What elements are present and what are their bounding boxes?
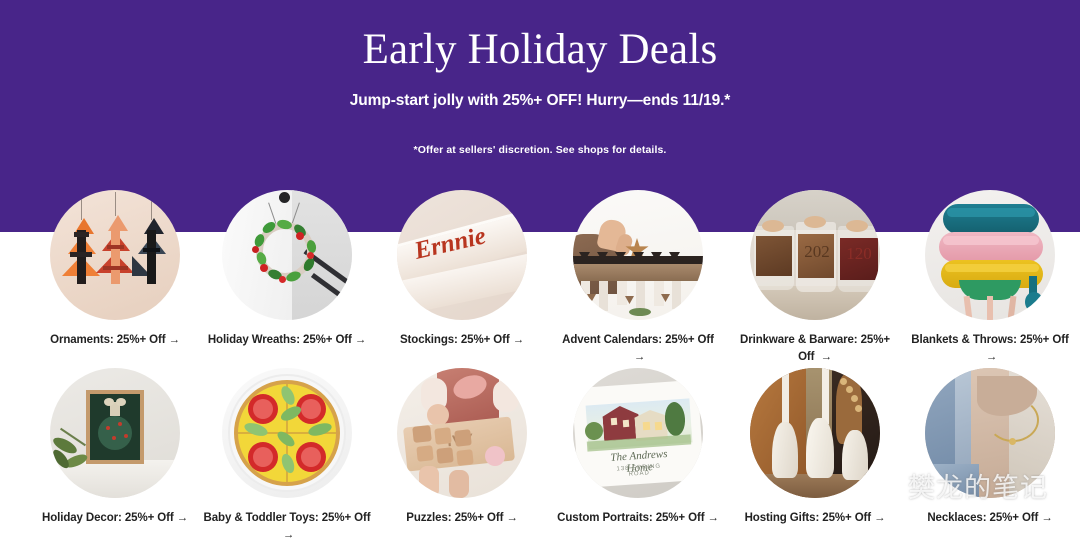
category-tile-holiday-decor[interactable]: Holiday Decor: 25%+ Off→ [25,368,205,527]
promo-subtitle: Jump-start jolly with 25%+ OFF! Hurry—en… [0,92,1080,110]
category-label[interactable]: Holiday Decor: 25%+ Off→ [25,510,205,527]
arrow-right-icon: → [983,351,997,363]
thumbnail-wrap[interactable] [222,368,352,498]
category-tile-holiday-wreaths[interactable]: Holiday Wreaths: 25%+ Off→ [197,190,377,349]
category-label[interactable]: Necklaces: 25%+ Off→ [900,510,1080,527]
category-label[interactable]: Advent Calendars: 25%+ Off → [548,332,728,366]
advent-calendars-image [573,190,703,320]
baby-toddler-toys-image [222,368,352,498]
holiday-wreaths-image [222,190,352,320]
puzzles-image: IVY [397,368,527,498]
page-root: Early Holiday Deals Jump-start jolly wit… [0,0,1080,544]
necklaces-image [925,368,1055,498]
arrow-right-icon: → [503,512,517,524]
category-label[interactable]: Holiday Wreaths: 25%+ Off→ [197,332,377,349]
category-label-text: Stockings: 25%+ Off [400,334,510,346]
thumbnail-wrap[interactable] [222,190,352,320]
hosting-gifts-image [750,368,880,498]
category-row-2: Holiday Decor: 25%+ Off→ [0,368,1080,544]
thumbnail-wrap[interactable] [925,190,1055,320]
arrow-right-icon: → [631,351,645,363]
category-tile-necklaces[interactable]: Necklaces: 25%+ Off→ [900,368,1080,527]
category-label-text: Holiday Decor: 25%+ Off [42,512,174,524]
arrow-right-icon: → [352,334,366,346]
category-label-text: Hosting Gifts: 25%+ Off [745,512,871,524]
category-label-text: Custom Portraits: 25%+ Off [557,512,704,524]
arrow-right-icon: → [1038,512,1052,524]
arrow-right-icon: → [704,512,718,524]
category-label[interactable]: Stockings: 25%+ Off→ [372,332,552,349]
category-label[interactable]: Custom Portraits: 25%+ Off→ [548,510,728,527]
category-label-text: Ornaments: 25%+ Off [50,334,165,346]
thumbnail-wrap[interactable]: The Andrews Home 138 SPRING ROAD [573,368,703,498]
category-label-text: Blankets & Throws: 25%+ Off [911,334,1068,346]
arrow-right-icon: → [510,334,524,346]
fine-print: *Offer at sellers' discretion. See shops… [0,144,1080,156]
category-grid: Ornaments: 25%+ Off→ [0,190,1080,544]
thumbnail-wrap[interactable] [50,368,180,498]
holiday-decor-image [50,368,180,498]
thumbnail-wrap[interactable] [750,368,880,498]
category-label[interactable]: Puzzles: 25%+ Off→ [372,510,552,527]
category-tile-ornaments[interactable]: Ornaments: 25%+ Off→ [25,190,205,349]
thumbnail-wrap[interactable] [925,368,1055,498]
arrow-right-icon: → [818,351,832,363]
category-tile-blankets-throws[interactable]: Blankets & Throws: 25%+ Off → [900,190,1080,366]
thumbnail-wrap[interactable]: Ernnie [397,190,527,320]
category-label[interactable]: Blankets & Throws: 25%+ Off → [900,332,1080,366]
category-label-text: Puzzles: 25%+ Off [406,512,503,524]
ornaments-image [50,190,180,320]
category-label-text: Baby & Toddler Toys: 25%+ Off [204,512,371,524]
category-label-text: Advent Calendars: 25%+ Off [562,334,714,346]
thumbnail-wrap[interactable] [573,190,703,320]
category-tile-drinkware-barware[interactable]: 202 120 Drinkware & Barware: 25%+ Off → [725,190,905,366]
arrow-right-icon: → [280,529,294,541]
custom-portraits-image: The Andrews Home 138 SPRING ROAD [573,368,703,498]
category-tile-baby-toddler-toys[interactable]: Baby & Toddler Toys: 25%+ Off → [197,368,377,544]
arrow-right-icon: → [871,512,885,524]
category-label-text: Holiday Wreaths: 25%+ Off [208,334,352,346]
arrow-right-icon: → [165,334,179,346]
category-tile-stockings[interactable]: Ernnie Stockings: 25%+ Off→ [372,190,552,349]
thumbnail-wrap[interactable]: 202 120 [750,190,880,320]
thumbnail-wrap[interactable] [50,190,180,320]
category-tile-custom-portraits[interactable]: The Andrews Home 138 SPRING ROAD Custom … [548,368,728,527]
blankets-throws-image [925,190,1055,320]
category-tile-puzzles[interactable]: IVY Puzzles: [372,368,552,527]
category-label-text: Necklaces: 25%+ Off [927,512,1038,524]
drinkware-barware-image: 202 120 [750,190,880,320]
category-tile-advent-calendars[interactable]: Advent Calendars: 25%+ Off → [548,190,728,366]
category-label[interactable]: Baby & Toddler Toys: 25%+ Off → [197,510,377,544]
category-label[interactable]: Ornaments: 25%+ Off→ [25,332,205,349]
page-title: Early Holiday Deals [0,24,1080,76]
category-label[interactable]: Drinkware & Barware: 25%+ Off → [725,332,905,366]
category-label-text: Drinkware & Barware: 25%+ Off [740,334,890,363]
category-row-1: Ornaments: 25%+ Off→ [0,190,1080,368]
thumbnail-wrap[interactable]: IVY [397,368,527,498]
category-tile-hosting-gifts[interactable]: Hosting Gifts: 25%+ Off→ [725,368,905,527]
stockings-image: Ernnie [397,190,527,320]
arrow-right-icon: → [174,512,188,524]
category-label[interactable]: Hosting Gifts: 25%+ Off→ [725,510,905,527]
